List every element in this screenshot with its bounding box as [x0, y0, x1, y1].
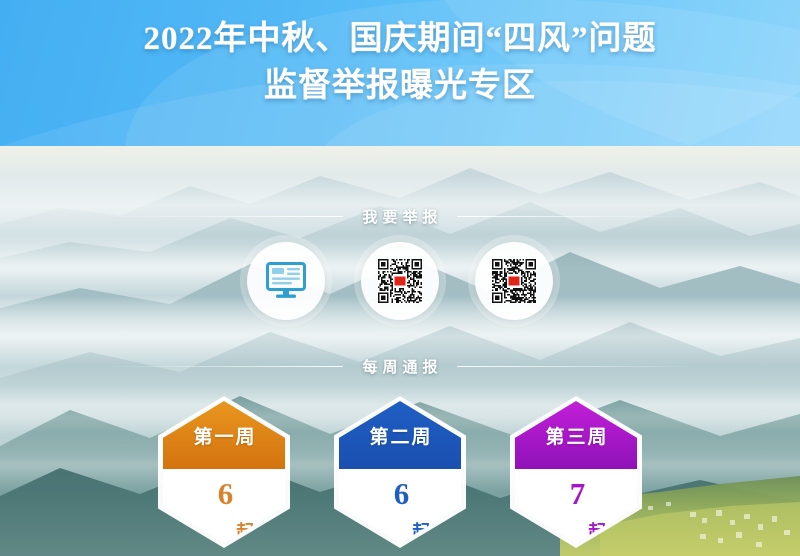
hex-count-area: 6 起: [163, 469, 285, 543]
report-channel-website[interactable]: [247, 242, 325, 320]
section-divider-weekly: 每周通报: [0, 356, 800, 377]
divider-rule-left: [113, 366, 343, 367]
hex-count: 7: [570, 478, 586, 509]
hex-header-week-1: 第一周: [163, 401, 285, 469]
hex-label: 第二周: [367, 422, 432, 449]
report-channel-list: [0, 242, 800, 320]
hex-header-week-3: 第三周: [515, 401, 637, 469]
section-divider-report: 我要举报: [0, 206, 800, 227]
section-title-weekly: 每周通报: [357, 356, 442, 377]
qr-code-icon: [492, 259, 536, 303]
hex-count-area: 6 起: [339, 469, 461, 543]
hex-label: 第三周: [543, 422, 608, 449]
report-channel-qrcode-1[interactable]: [361, 242, 439, 320]
page-title-line-1: 2022年中秋、国庆期间“四风”问题: [0, 16, 800, 63]
monitor-icon: [265, 261, 307, 301]
section-title-report: 我要举报: [357, 206, 442, 227]
report-channel-qrcode-2[interactable]: [475, 242, 553, 320]
divider-rule-right: [457, 216, 687, 217]
qr-code-icon: [378, 259, 422, 303]
divider-rule-left: [113, 216, 343, 217]
page-title-line-2: 监督举报曝光专区: [0, 63, 800, 110]
hex-label: 第一周: [191, 422, 256, 449]
hex-header-week-2: 第二周: [339, 401, 461, 469]
hex-count: 6: [394, 478, 410, 509]
page-banner: 2022年中秋、国庆期间“四风”问题 监督举报曝光专区: [0, 0, 800, 146]
weekly-badge-week-1[interactable]: 第一周 6 起: [158, 396, 290, 548]
weekly-badge-list: 第一周 6 起 第二周 6 起: [0, 396, 800, 548]
page-title: 2022年中秋、国庆期间“四风”问题 监督举报曝光专区: [0, 0, 800, 110]
hex-count: 6: [218, 478, 234, 509]
qr-center-logo: [394, 276, 407, 287]
qr-center-logo: [508, 276, 521, 287]
weekly-badge-week-2[interactable]: 第二周 6 起: [334, 396, 466, 548]
weekly-badge-week-3[interactable]: 第三周 7 起: [510, 396, 642, 548]
divider-rule-right: [457, 366, 687, 367]
campaign-poster: 2022年中秋、国庆期间“四风”问题 监督举报曝光专区: [0, 0, 800, 556]
hex-count-area: 7 起: [515, 469, 637, 543]
